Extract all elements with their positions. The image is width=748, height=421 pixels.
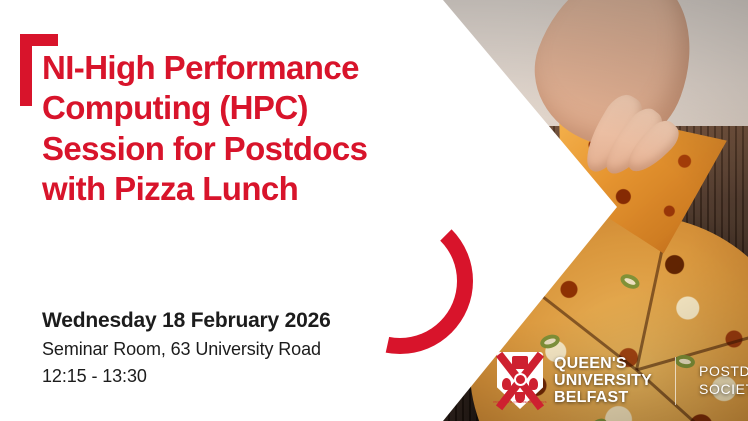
university-wordmark: QUEEN'S UNIVERSITY BELFAST xyxy=(554,355,652,407)
title-line-1: NI-High Performance xyxy=(42,48,462,88)
title-line-2: Computing (HPC) xyxy=(42,88,462,128)
title-line-3: Session for Postdocs xyxy=(42,129,462,169)
page-title: NI-High Performance Computing (HPC) Sess… xyxy=(42,48,462,209)
crest-charge-right xyxy=(529,378,538,390)
crest-charge-left xyxy=(502,378,511,390)
society-line-1: POSTDOC xyxy=(699,363,748,380)
wordmark-line-3: BELFAST xyxy=(554,389,652,406)
crest-center-boss xyxy=(514,373,527,386)
wordmark-line-2: UNIVERSITY xyxy=(554,372,652,389)
postdoc-society-wordmark: POSTDOC SOCIETY xyxy=(699,363,748,397)
crest-chief-charge xyxy=(512,356,529,369)
title-line-4: with Pizza Lunch xyxy=(42,169,462,209)
crest-motto: PRO TANTO QUID RETRIBUAMUS xyxy=(493,400,546,404)
event-venue: Seminar Room, 63 University Road xyxy=(42,336,331,363)
event-details: Wednesday 18 February 2026 Seminar Room,… xyxy=(42,306,331,390)
qub-crest-icon: PRO TANTO QUID RETRIBUAMUS xyxy=(497,352,543,409)
event-time: 12:15 - 13:30 xyxy=(42,363,331,390)
society-line-2: SOCIETY xyxy=(699,381,748,398)
wordmark-line-1: QUEEN'S xyxy=(554,355,652,372)
bracket-horizontal-bar xyxy=(20,34,58,46)
event-poster: NI-High Performance Computing (HPC) Sess… xyxy=(0,0,748,421)
logo-divider xyxy=(675,357,676,405)
logo-lockup: PRO TANTO QUID RETRIBUAMUS QUEEN'S UNIVE… xyxy=(497,352,748,409)
event-date: Wednesday 18 February 2026 xyxy=(42,306,331,336)
